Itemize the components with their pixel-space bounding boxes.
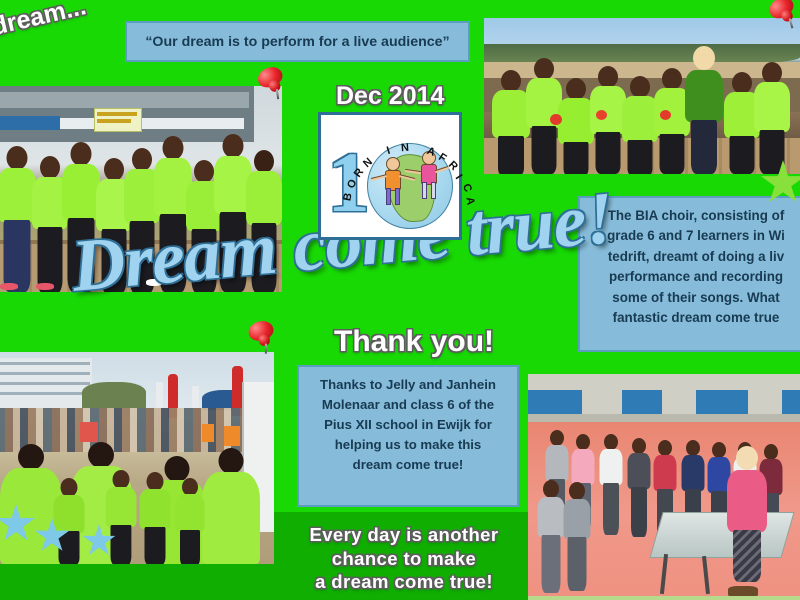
photo-choir-by-the-lagoon: [484, 18, 800, 174]
thanks-line: dream come true!: [304, 455, 512, 475]
story-line: performance and recording: [586, 267, 800, 287]
quote-textbox: “Our dream is to perform for a live audi…: [125, 21, 470, 62]
footer-slogan: Every day is another chance to make a dr…: [286, 523, 522, 594]
choir-leader: [682, 46, 726, 174]
story-line: fantastic dream come true: [586, 308, 800, 328]
story-line: The BIA choir, consisting of: [586, 206, 800, 226]
poster-canvas: e dream... “Our dream is to perform for …: [0, 0, 800, 600]
quote-text: “Our dream is to perform for a live audi…: [145, 34, 449, 50]
date-label: Dec 2014: [336, 82, 444, 111]
thanks-line: Molenaar and class 6 of the: [304, 395, 512, 415]
footer-slogan-line: Every day is another: [286, 523, 522, 547]
kid-figure-left: [383, 157, 403, 209]
diagonal-dream-caption: e dream...: [0, 0, 89, 47]
bottom-right-green-strip: [528, 596, 800, 600]
kid-figure-right: [419, 151, 439, 203]
story-line: tedrift, dreamt of doing a liv: [586, 247, 800, 267]
thanks-line: Pius XII school in Ewijk for: [304, 415, 512, 435]
logo-arc-char: I: [453, 172, 465, 181]
footer-slogan-line: chance to make: [286, 547, 522, 571]
photo-outdoor-performance: [0, 352, 274, 564]
thanks-line: Thanks to Jelly and Janhein: [304, 375, 512, 395]
folding-table: [649, 512, 794, 558]
globe-icon: [367, 143, 453, 229]
born-in-africa-logo: 10 BORNINAFRICA: [318, 112, 462, 240]
thank-you-heading: Thank you!: [334, 325, 494, 359]
story-line: grade 6 and 7 learners in Wi: [586, 226, 800, 246]
story-line: some of their songs. What: [586, 288, 800, 308]
photo-rehearsal-in-hall: [528, 374, 800, 600]
footer-slogan-line: a dream come true!: [286, 570, 522, 594]
thanks-line: helping us to make this: [304, 435, 512, 455]
conductor: [724, 446, 770, 596]
thanks-textbox: Thanks to Jelly and Janhein Molenaar and…: [297, 365, 519, 507]
